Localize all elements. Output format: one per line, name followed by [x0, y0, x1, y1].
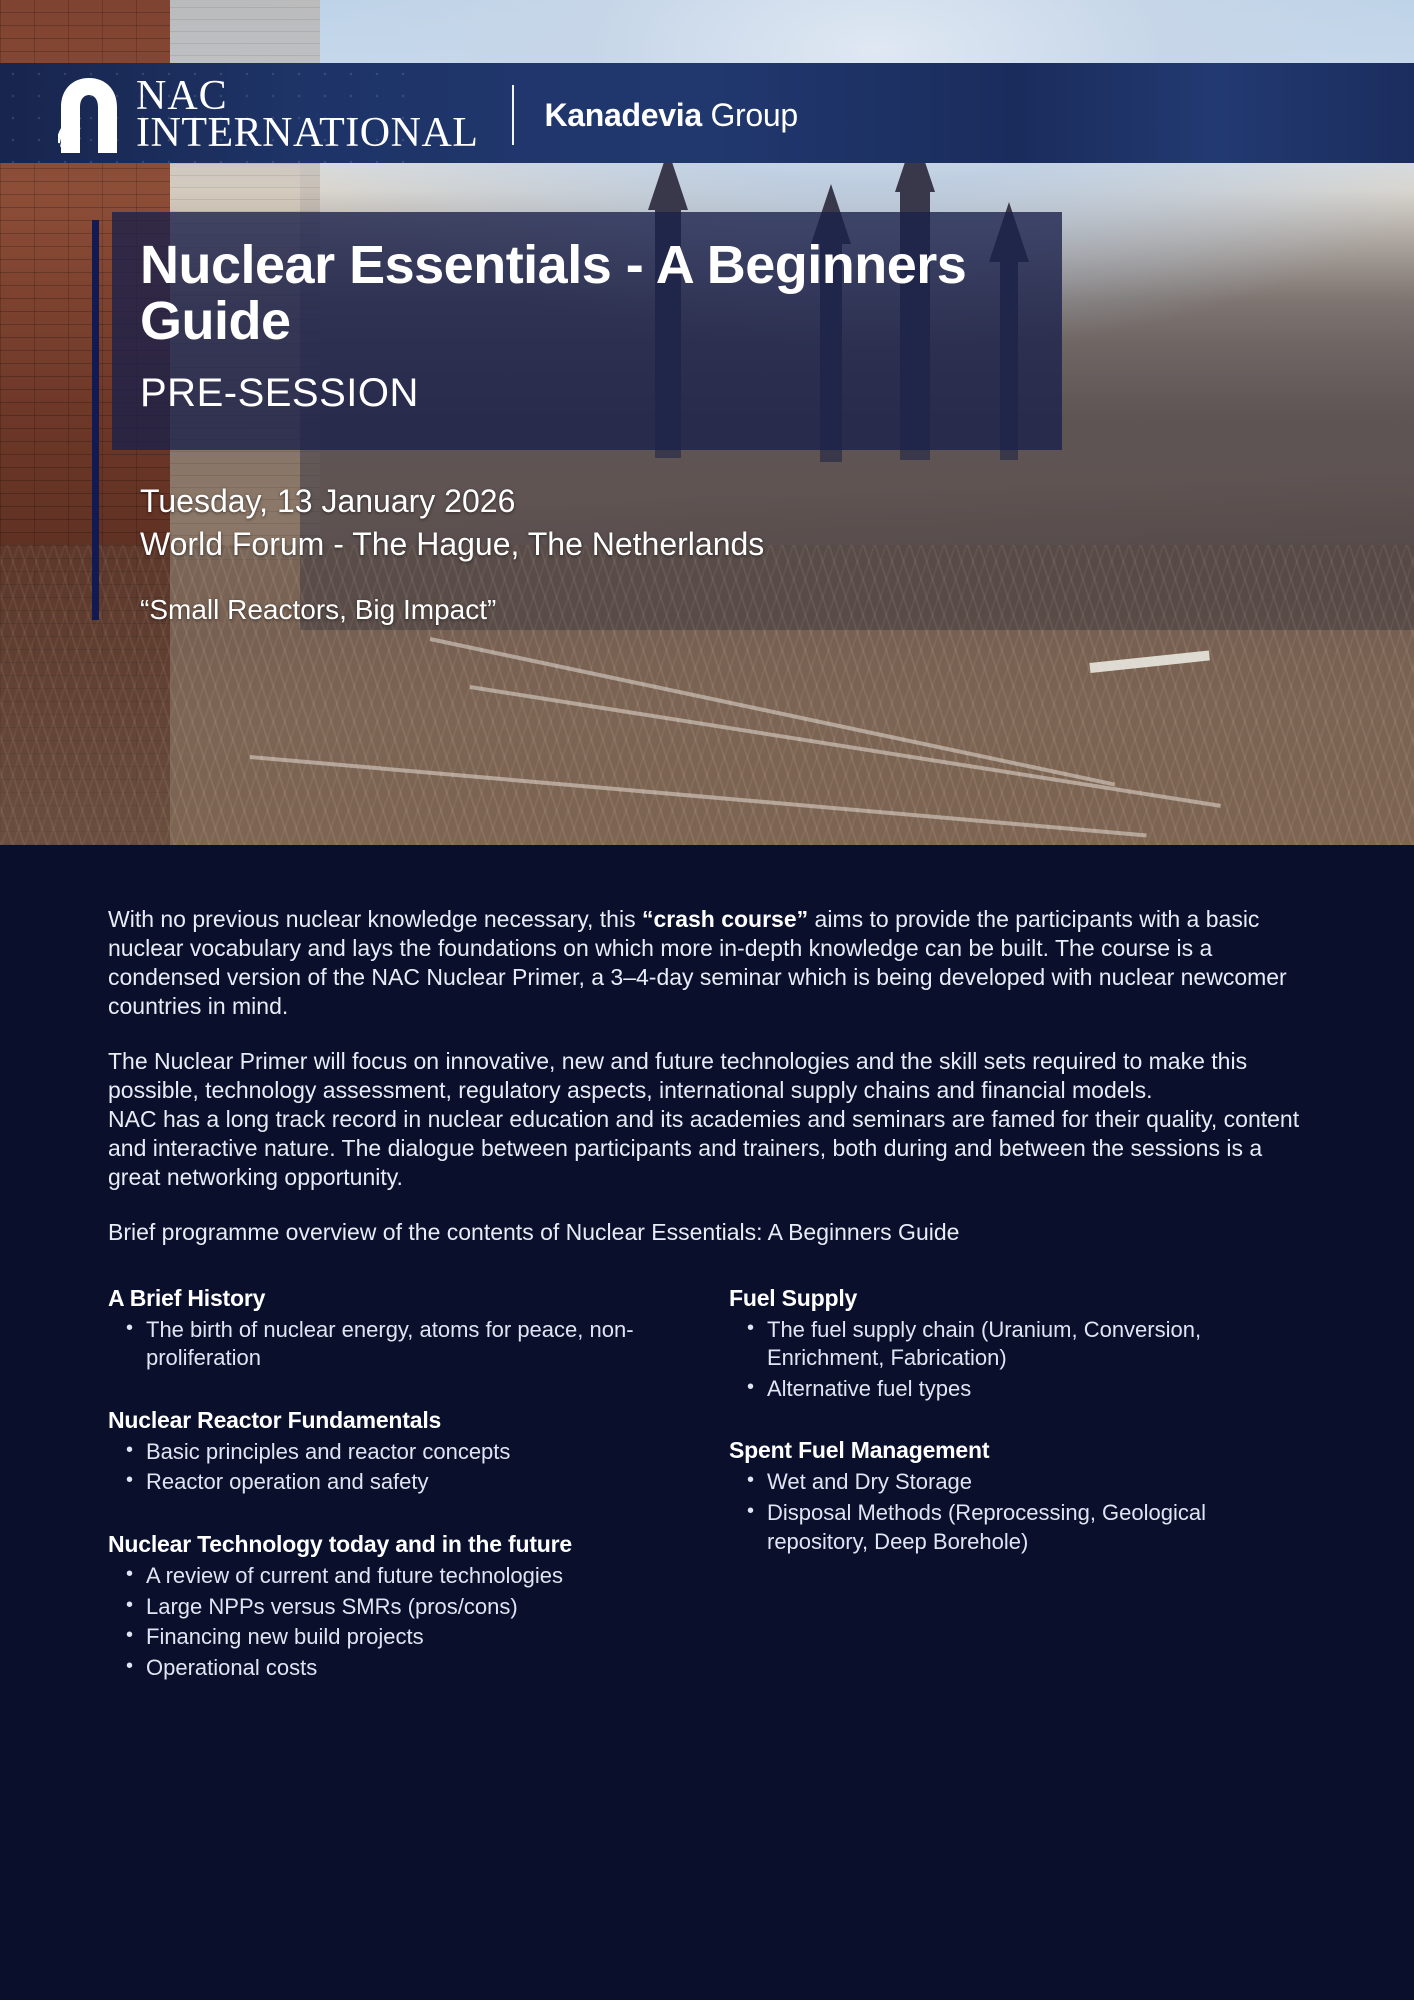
list-item: A review of current and future technolog… — [108, 1562, 707, 1591]
primer-paragraph: The Nuclear Primer will focus on innovat… — [108, 1047, 1306, 1105]
group-list: The fuel supply chain (Uranium, Conversi… — [729, 1316, 1306, 1404]
list-item: Disposal Methods (Reprocessing, Geologic… — [729, 1499, 1306, 1556]
poster-page: NAC INTERNATIONAL Kanadevia Group Nuclea… — [0, 0, 1414, 2000]
programme-group-spent-fuel: Spent Fuel Management Wet and Dry Storag… — [729, 1437, 1306, 1556]
list-item: Financing new build projects — [108, 1623, 707, 1652]
programme-group-reactor-fundamentals: Nuclear Reactor Fundamentals Basic princ… — [108, 1407, 707, 1497]
list-item: Operational costs — [108, 1654, 707, 1683]
title-overlay-card: Nuclear Essentials - A Beginners Guide P… — [112, 212, 1062, 450]
event-date: Tuesday, 13 January 2026 — [140, 480, 1140, 523]
session-type-label: PRE-SESSION — [112, 349, 1062, 416]
list-item: Wet and Dry Storage — [729, 1468, 1306, 1497]
list-item: The birth of nuclear energy, atoms for p… — [108, 1316, 707, 1373]
group-heading: Nuclear Reactor Fundamentals — [108, 1407, 707, 1434]
group-heading: Fuel Supply — [729, 1285, 1306, 1312]
partner-suffix: Group — [710, 97, 797, 133]
brand-line-2: INTERNATIONAL — [136, 115, 478, 152]
group-heading: Nuclear Technology today and in the futu… — [108, 1531, 707, 1558]
accent-bar — [92, 220, 99, 620]
list-item: Large NPPs versus SMRs (pros/cons) — [108, 1593, 707, 1622]
programme-group-history: A Brief History The birth of nuclear ene… — [108, 1285, 707, 1373]
list-item: Alternative fuel types — [729, 1375, 1306, 1404]
intro-paragraph: With no previous nuclear knowledge neces… — [108, 905, 1306, 1021]
programme-overview-line: Brief programme overview of the contents… — [108, 1218, 1306, 1247]
programme-column-right: Fuel Supply The fuel supply chain (Urani… — [707, 1285, 1306, 1717]
brand-logo[interactable]: NAC INTERNATIONAL Kanadevia Group — [58, 76, 798, 154]
nac-arch-icon — [58, 77, 120, 153]
page-title: Nuclear Essentials - A Beginners Guide — [112, 212, 1062, 349]
brand-wordmark: NAC INTERNATIONAL — [136, 78, 478, 152]
group-list: The birth of nuclear energy, atoms for p… — [108, 1316, 707, 1373]
group-list: A review of current and future technolog… — [108, 1562, 707, 1682]
programme-group-technology: Nuclear Technology today and in the futu… — [108, 1531, 707, 1682]
group-list: Basic principles and reactor concepts Re… — [108, 1438, 707, 1497]
list-item: The fuel supply chain (Uranium, Conversi… — [729, 1316, 1306, 1373]
track-record-paragraph: NAC has a long track record in nuclear e… — [108, 1105, 1306, 1192]
list-item: Basic principles and reactor concepts — [108, 1438, 707, 1467]
intro-text-a: With no previous nuclear knowledge neces… — [108, 906, 642, 932]
programme-group-fuel-supply: Fuel Supply The fuel supply chain (Urani… — [729, 1285, 1306, 1404]
logo-divider — [512, 85, 514, 145]
event-tagline: “Small Reactors, Big Impact” — [140, 594, 1140, 626]
group-heading: Spent Fuel Management — [729, 1437, 1306, 1464]
partner-wordmark: Kanadevia Group — [544, 97, 797, 134]
partner-name: Kanadevia — [544, 97, 701, 133]
programme-column-left: A Brief History The birth of nuclear ene… — [108, 1285, 707, 1717]
programme-columns: A Brief History The birth of nuclear ene… — [108, 1285, 1306, 1717]
event-details: Tuesday, 13 January 2026 World Forum - T… — [140, 480, 1140, 626]
group-list: Wet and Dry Storage Disposal Methods (Re… — [729, 1468, 1306, 1556]
list-item: Reactor operation and safety — [108, 1468, 707, 1497]
crash-course-emphasis: “crash course” — [642, 906, 808, 932]
body-content: With no previous nuclear knowledge neces… — [0, 845, 1414, 1716]
group-heading: A Brief History — [108, 1285, 707, 1312]
event-venue: World Forum - The Hague, The Netherlands — [140, 523, 1140, 566]
hero-section: NAC INTERNATIONAL Kanadevia Group Nuclea… — [0, 0, 1414, 845]
